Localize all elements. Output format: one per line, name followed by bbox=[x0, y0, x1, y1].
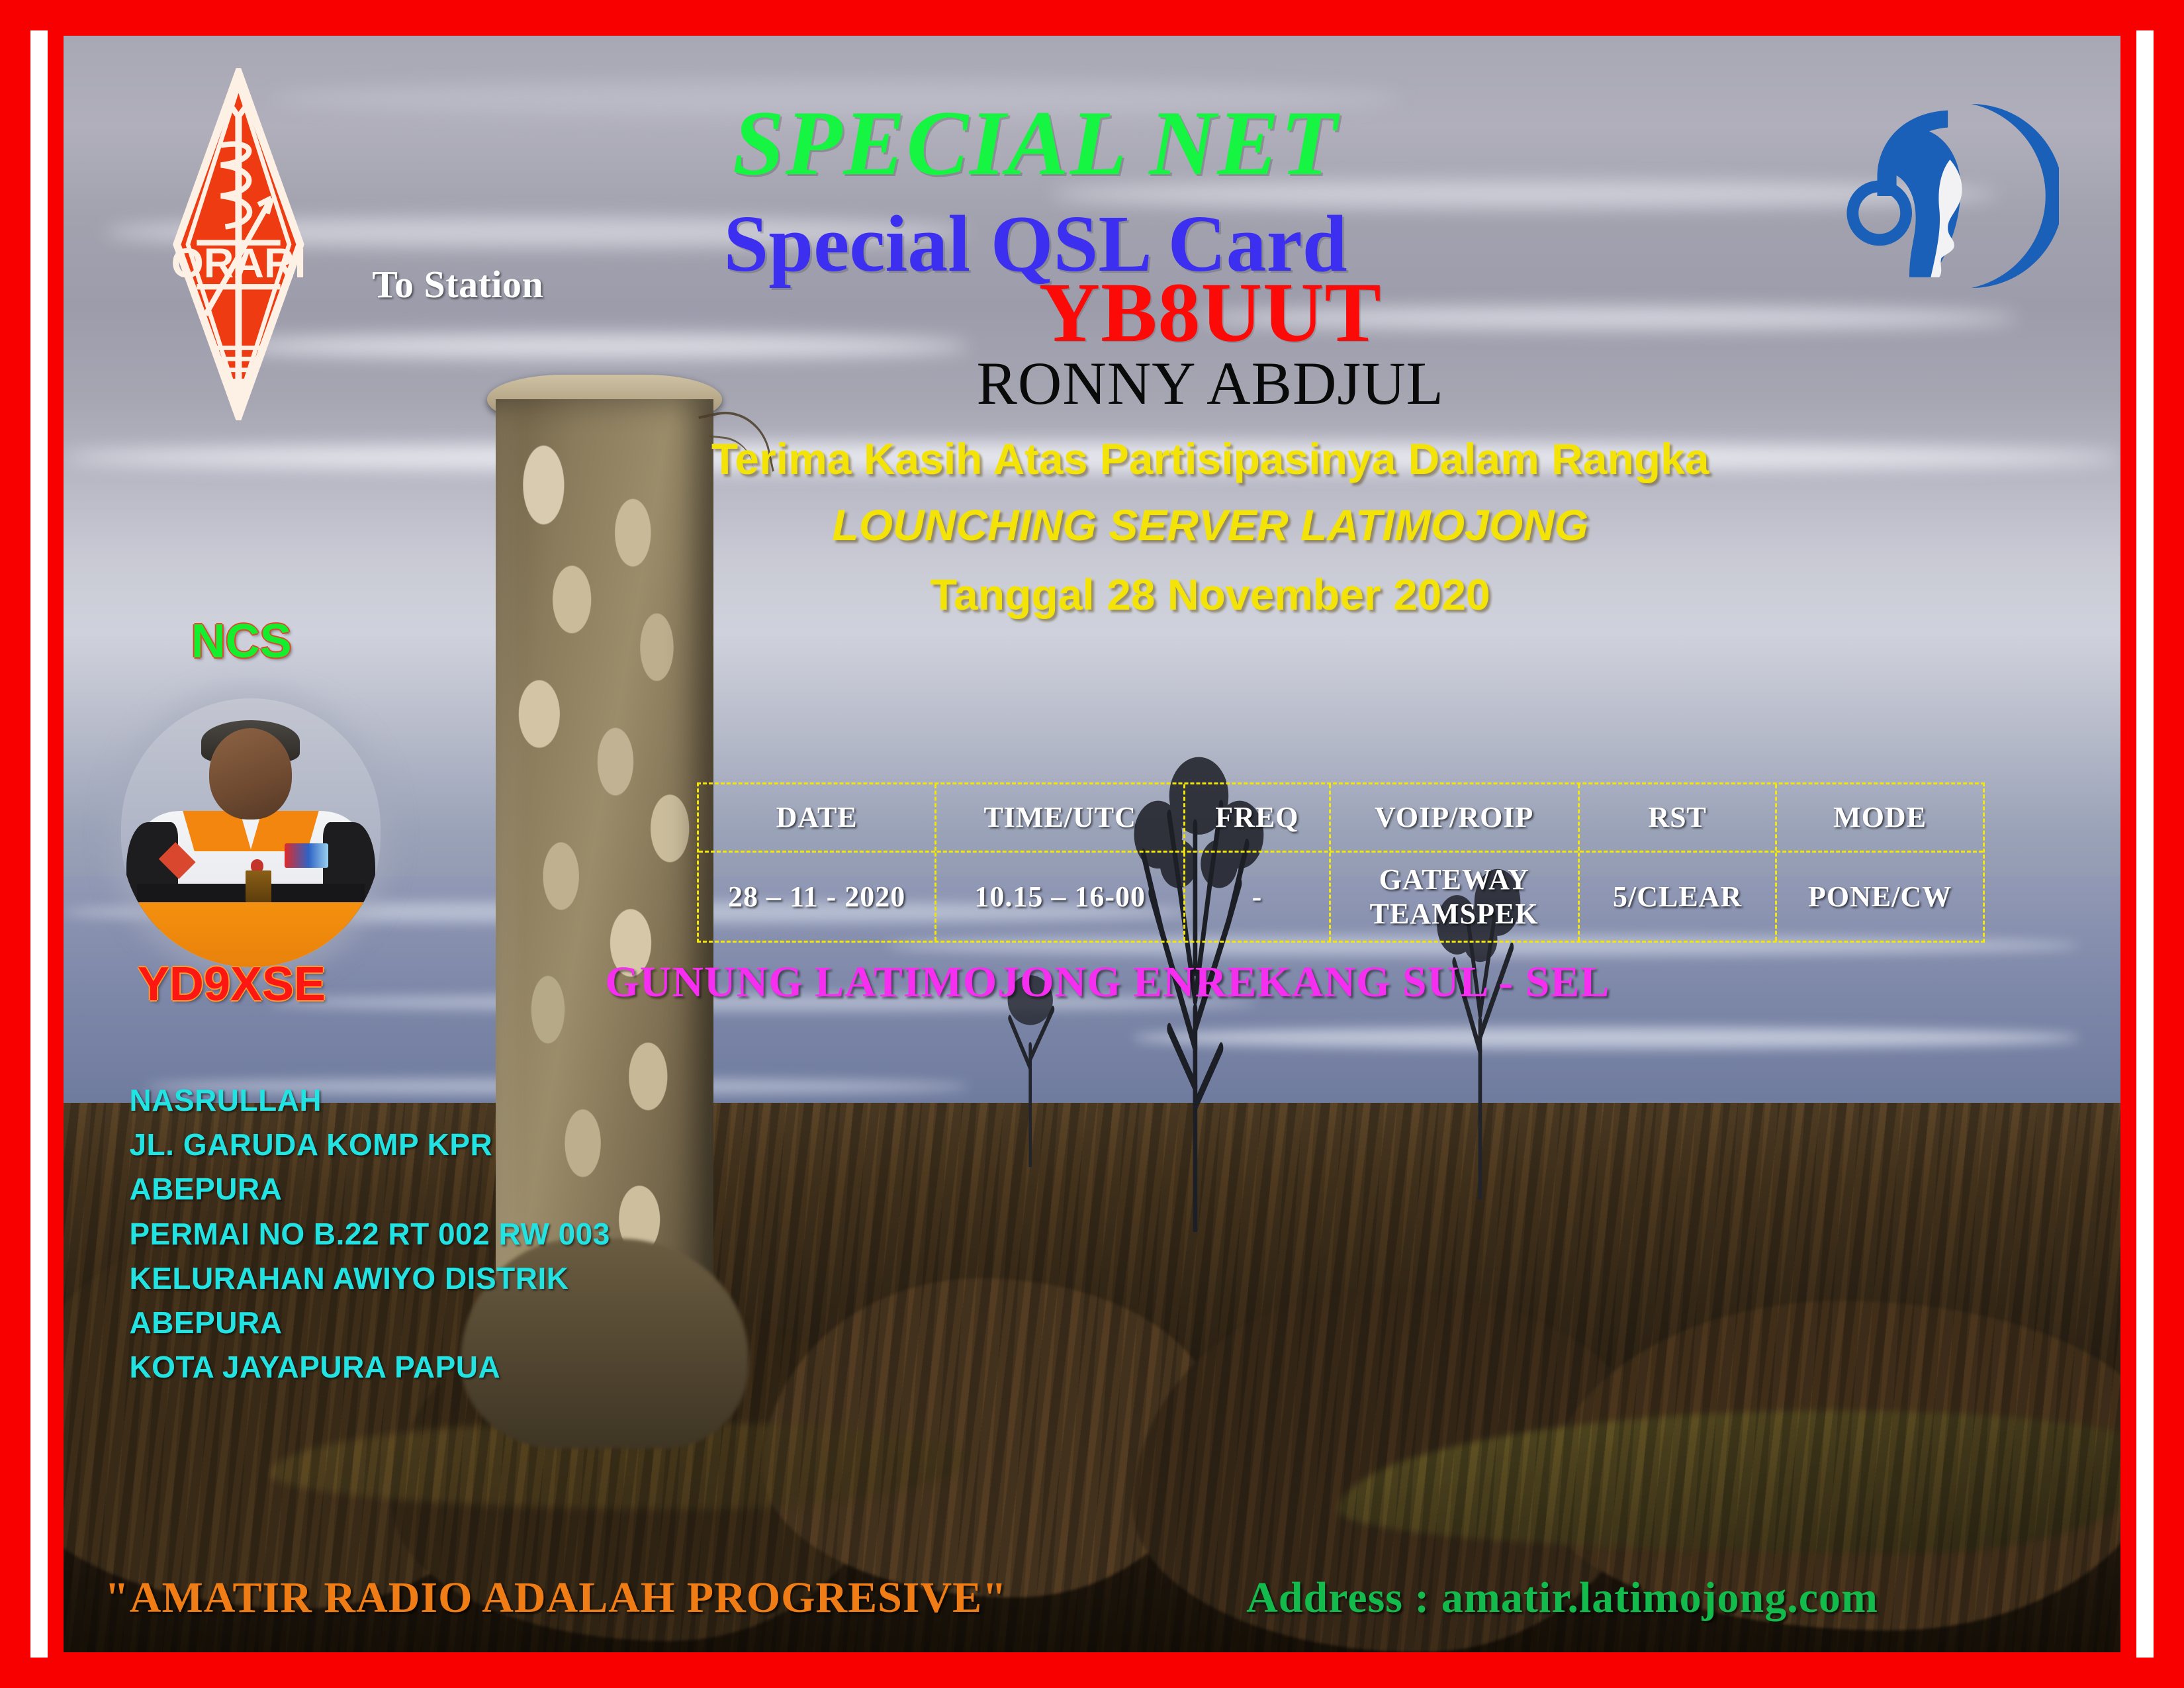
table-header-row: DATE TIME/UTC FREQ VOIP/ROIP RST MODE bbox=[699, 784, 1983, 851]
avatar bbox=[121, 698, 381, 966]
column-header-time: TIME/UTC bbox=[936, 784, 1185, 851]
cell-time: 10.15 – 16-00 bbox=[936, 853, 1185, 941]
location-line: GUNUNG LATIMOJONG ENREKANG SUL - SEL bbox=[64, 957, 2120, 1008]
address-line: KELURAHAN AWIYO DISTRIK bbox=[129, 1256, 610, 1301]
event-thanks-line: Terima Kasih Atas Partisipasinya Dalam R… bbox=[64, 437, 2120, 481]
address-line: NASRULLAH bbox=[129, 1078, 610, 1123]
cell-rst: 5/CLEAR bbox=[1580, 853, 1778, 941]
address-line: JL. GARUDA KOMP KPR bbox=[129, 1123, 610, 1167]
table-row: 28 – 11 - 2020 10.15 – 16-00 - GATEWAY T… bbox=[699, 851, 1983, 941]
address-line: PERMAI NO B.22 RT 002 RW 003 bbox=[129, 1212, 610, 1256]
footer-address: Address : amatir.latimojong.com bbox=[1246, 1573, 1878, 1623]
station-callsign: YB8UUT bbox=[64, 270, 2120, 355]
ncs-operator-photo bbox=[121, 698, 381, 966]
cell-voip: GATEWAY TEAMSPEK bbox=[1331, 853, 1580, 941]
address-line: ABEPURA bbox=[129, 1167, 610, 1211]
column-header-freq: FREQ bbox=[1185, 784, 1330, 851]
footer-motto: "AMATIR RADIO ADALAH PROGRESIVE" bbox=[105, 1573, 1007, 1623]
cell-freq: - bbox=[1185, 853, 1330, 941]
event-date-line: Tanggal 28 November 2020 bbox=[64, 573, 2120, 616]
qso-log-table: DATE TIME/UTC FREQ VOIP/ROIP RST MODE 28… bbox=[697, 782, 1985, 943]
ncs-label: NCS bbox=[191, 618, 292, 665]
column-header-date: DATE bbox=[699, 784, 936, 851]
event-title-line: LOUNCHING SERVER LATIMOJONG bbox=[64, 503, 2120, 547]
address-block: NASRULLAH JL. GARUDA KOMP KPR ABEPURA PE… bbox=[129, 1078, 610, 1389]
column-header-rst: RST bbox=[1580, 784, 1778, 851]
portrait-chest-logo bbox=[285, 843, 329, 867]
cell-mode: PONE/CW bbox=[1777, 853, 1982, 941]
portrait-face bbox=[209, 728, 292, 820]
qsl-card: ORARI SPECIAL NET Special bbox=[0, 0, 2184, 1688]
grass-patch bbox=[1339, 1411, 2120, 1554]
address-line: ABEPURA bbox=[129, 1301, 610, 1345]
operator-name: RONNY ABDJUL bbox=[64, 353, 2120, 414]
page-title: SPECIAL NET bbox=[64, 97, 2120, 190]
cell-voip-line1: GATEWAY bbox=[1379, 863, 1529, 896]
address-line: KOTA JAYAPURA PAPUA bbox=[129, 1345, 610, 1389]
cell-voip-line2: TEAMSPEK bbox=[1370, 898, 1539, 930]
column-header-mode: MODE bbox=[1777, 784, 1982, 851]
rock-boulder bbox=[763, 1278, 1216, 1597]
column-header-voip: VOIP/ROIP bbox=[1331, 784, 1580, 851]
card-photo-background: ORARI SPECIAL NET Special bbox=[64, 36, 2120, 1652]
portrait-id-card bbox=[246, 870, 271, 903]
cell-date: 28 – 11 - 2020 bbox=[699, 853, 936, 941]
